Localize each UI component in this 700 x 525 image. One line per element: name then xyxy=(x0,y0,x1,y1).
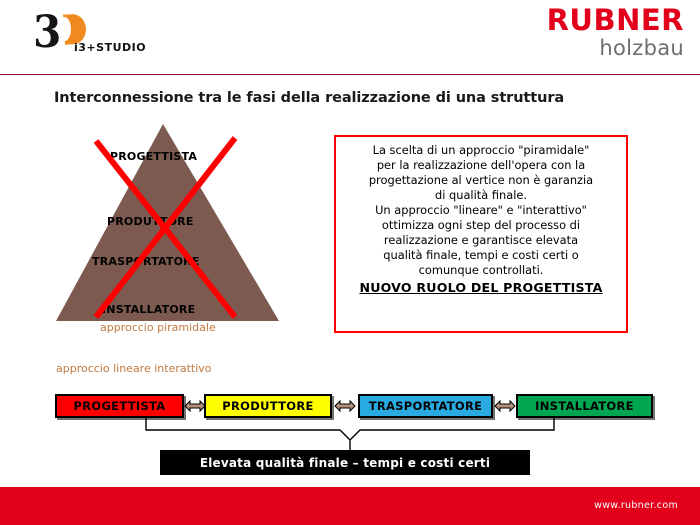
pyramid-diagram: PROGETTISTA PRODUTTORE TRASPORTATORE INS… xyxy=(52,124,284,336)
studio-logo-crescent-notch xyxy=(58,17,71,41)
header-divider xyxy=(0,74,700,75)
chain-step-label: PRODUTTORE xyxy=(222,399,313,413)
chain-brace-connector xyxy=(140,418,560,452)
brand-logo-subtitle: holzbau xyxy=(547,38,684,59)
slide-canvas: 3 i3+STUDIO RUBNER holzbau Interconnessi… xyxy=(0,0,700,525)
explanation-line: comunque controllati. xyxy=(344,263,618,278)
studio-logo: 3 i3+STUDIO xyxy=(28,10,178,60)
explanation-line: ottimizza ogni step del processo di xyxy=(344,218,618,233)
pyramid-crossed-out-icon xyxy=(52,124,284,322)
explanation-line: progettazione al vertice non è garanzia xyxy=(344,173,618,188)
chain-step-produttore[interactable]: PRODUTTORE xyxy=(204,394,332,418)
explanation-line: La scelta di un approccio "piramidale" xyxy=(344,143,618,158)
chain-step-label: TRASPORTATORE xyxy=(365,396,487,416)
explanation-box: La scelta di un approccio "piramidale" p… xyxy=(334,135,628,333)
page-title: Interconnessione tra le fasi della reali… xyxy=(54,90,564,106)
double-arrow-icon-2 xyxy=(334,398,356,414)
chain-caption: approccio lineare interattivo xyxy=(56,362,212,375)
chain-step-label: PROGETTISTA xyxy=(73,399,165,413)
explanation-line: realizzazione e garantisce elevata xyxy=(344,233,618,248)
explanation-line: Un approccio "lineare" e "interattivo" xyxy=(344,203,618,218)
chain-step-label: INSTALLATORE xyxy=(535,399,634,413)
chain-step-progettista[interactable]: PROGETTISTA xyxy=(55,394,184,418)
studio-logo-wordmark: i3+STUDIO xyxy=(74,41,146,54)
explanation-line: di qualità finale. xyxy=(344,188,618,203)
footer-url[interactable]: www.rubner.com xyxy=(594,500,678,511)
explanation-line: qualità finale, tempi e costi certi o xyxy=(344,248,618,263)
result-text: Elevata qualità finale – tempi e costi c… xyxy=(200,456,490,470)
studio-logo-mark: 3 xyxy=(33,7,59,58)
double-arrow-icon-3 xyxy=(494,398,516,414)
pyramid-caption: approccio piramidale xyxy=(100,321,216,334)
chain-step-installatore[interactable]: INSTALLATORE xyxy=(516,394,653,418)
result-banner: Elevata qualità finale – tempi e costi c… xyxy=(160,450,530,475)
double-arrow-icon-1 xyxy=(184,398,206,414)
brand-logo-name: RUBNER xyxy=(547,6,684,35)
explanation-line: per la realizzazione dell'opera con la xyxy=(344,158,618,173)
explanation-emphasis: NUOVO RUOLO DEL PROGETTISTA xyxy=(344,280,618,297)
brand-logo: RUBNER holzbau xyxy=(547,6,684,59)
chain-step-trasportatore[interactable]: TRASPORTATORE xyxy=(358,394,493,418)
